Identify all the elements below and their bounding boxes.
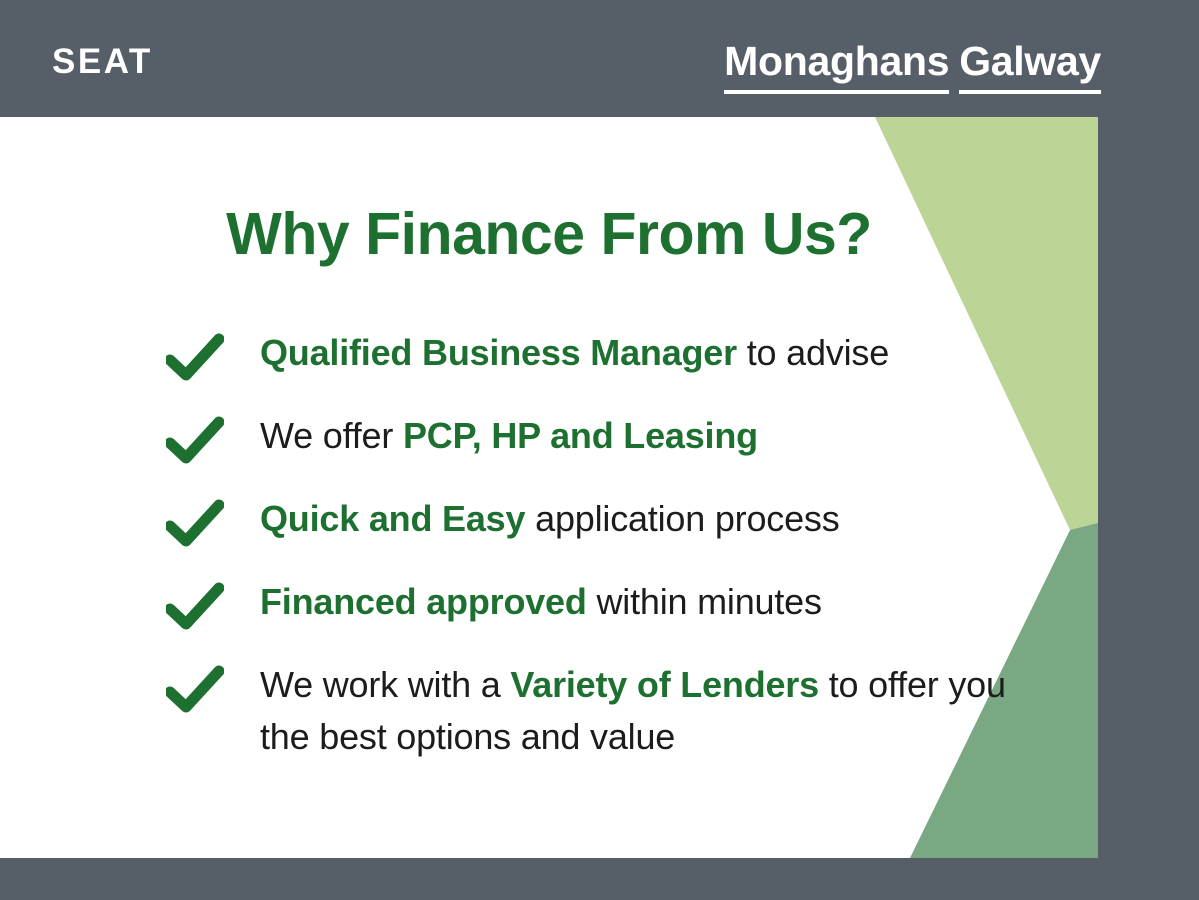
list-item-label: Quick and Easy application process: [224, 493, 1026, 545]
check-icon: [166, 333, 224, 383]
brand-seat-logo: SEAT: [52, 44, 153, 79]
footer-bar: [0, 858, 1199, 900]
dealer-name: MonaghansGalway: [724, 38, 1101, 85]
list-item-plain: We offer: [260, 415, 403, 456]
header-bar: SEAT MonaghansGalway: [0, 0, 1199, 117]
content-canvas: Why Finance From Us? Qualified Business …: [0, 117, 1098, 858]
list-item-emphasis: Financed approved: [260, 581, 587, 622]
benefits-list: Qualified Business Manager to adviseWe o…: [166, 327, 1026, 763]
list-item: Qualified Business Manager to advise: [166, 327, 1026, 385]
list-item-label: We offer PCP, HP and Leasing: [224, 410, 1026, 462]
list-item-emphasis: PCP, HP and Leasing: [403, 415, 758, 456]
list-item-label: Financed approved within minutes: [224, 576, 1026, 628]
list-item-plain: within minutes: [587, 581, 822, 622]
page-title: Why Finance From Us?: [0, 202, 1098, 267]
list-item-emphasis: Variety of Lenders: [510, 664, 819, 705]
list-item: Quick and Easy application process: [166, 493, 1026, 551]
check-icon: [166, 416, 224, 466]
list-item: Financed approved within minutes: [166, 576, 1026, 634]
list-item-label: Qualified Business Manager to advise: [224, 327, 1026, 379]
list-item-plain: to advise: [737, 332, 889, 373]
check-icon: [166, 499, 224, 549]
list-item-label: We work with a Variety of Lenders to off…: [224, 659, 1026, 763]
list-item-plain: We work with a: [260, 664, 510, 705]
list-item: We work with a Variety of Lenders to off…: [166, 659, 1026, 763]
list-item-emphasis: Qualified Business Manager: [260, 332, 737, 373]
slide: SEAT MonaghansGalway Why Finance From Us…: [0, 0, 1199, 900]
check-icon: [166, 582, 224, 632]
list-item-emphasis: Quick and Easy: [260, 498, 525, 539]
dealer-name-word-1: Monaghans: [724, 38, 949, 94]
check-icon: [166, 665, 224, 715]
list-item-plain: application process: [525, 498, 839, 539]
dealer-name-word-2: Galway: [959, 38, 1101, 94]
list-item: We offer PCP, HP and Leasing: [166, 410, 1026, 468]
